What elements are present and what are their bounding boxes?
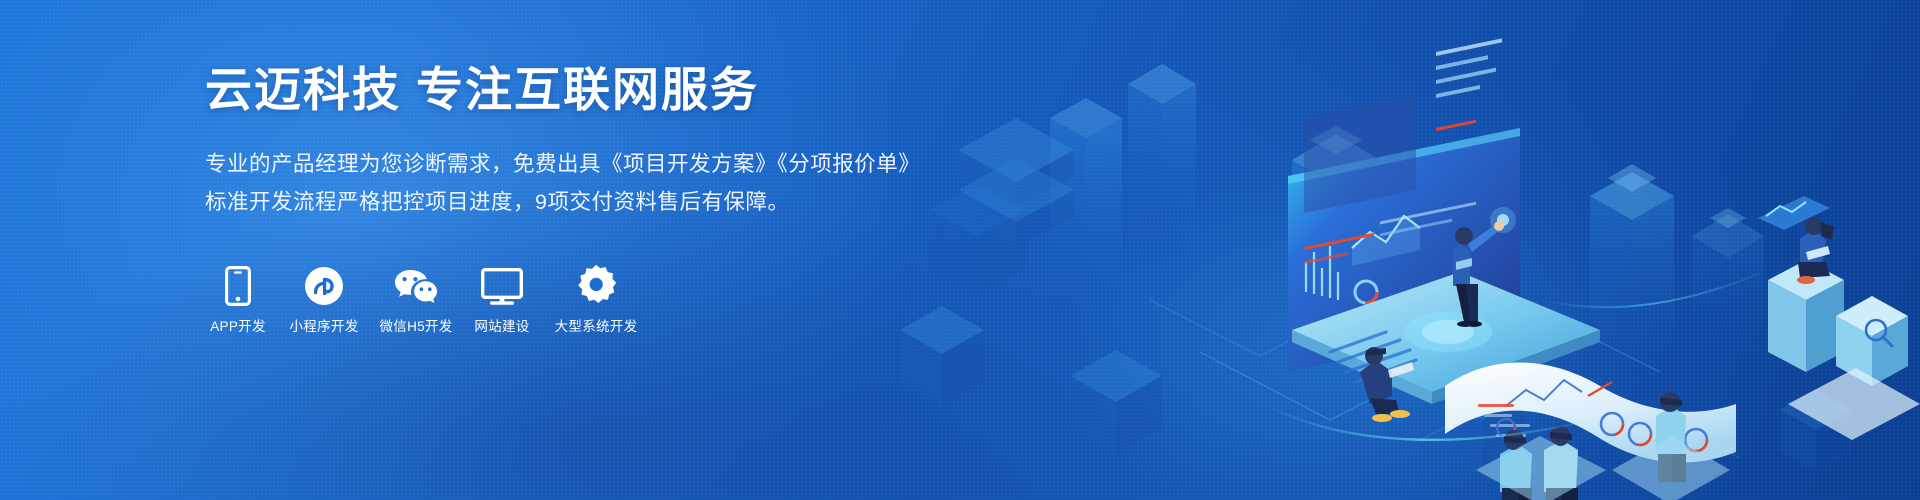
service-item-wechat[interactable]: 微信H5开发 [375, 264, 457, 334]
right-standing-person [1612, 392, 1730, 500]
right-data-card [1788, 0, 1920, 440]
walking-people [1476, 426, 1606, 500]
pedestal-person [1768, 217, 1844, 372]
service-label-app: APP开发 [210, 320, 266, 334]
promo-banner: 云迈科技 专注互联网服务 专业的产品经理为您诊断需求，免费出具《项目开发方案》《… [0, 0, 1920, 500]
glow-grid-lines [1150, 250, 1740, 458]
magnifier-cube [1836, 296, 1908, 386]
tablet-platform [1292, 272, 1600, 404]
service-label-system: 大型系统开发 [555, 320, 638, 334]
banner-subtitle-line-1: 专业的产品经理为您诊断需求，免费出具《项目开发方案》《分项报价单》 [205, 146, 965, 184]
background-glow-right [900, 40, 1800, 500]
service-label-miniprogram: 小程序开发 [290, 320, 359, 334]
service-label-wechat: 微信H5开发 [379, 320, 452, 334]
isometric-data-city-illustration [900, 0, 1920, 500]
mini-program-icon [304, 264, 344, 306]
monitor-icon [481, 264, 523, 306]
dashboard-screen [1288, 38, 1520, 372]
banner-headline: 云迈科技 专注互联网服务 [205, 62, 965, 118]
skyline-towers [900, 64, 1852, 472]
service-item-miniprogram[interactable]: 小程序开发 [285, 264, 363, 334]
service-item-system[interactable]: 大型系统开发 [549, 264, 643, 334]
seated-person-laptop [1360, 347, 1414, 422]
mobile-phone-icon [225, 264, 251, 306]
analytics-cards [1601, 413, 1707, 451]
service-list: APP开发 小程序开发 [205, 264, 965, 334]
service-item-app[interactable]: APP开发 [205, 264, 271, 334]
service-item-website[interactable]: 网站建设 [469, 264, 535, 334]
banner-subtitle-line-2: 标准开发流程严格把控项目进度，9项交付资料售后有保障。 [205, 184, 965, 222]
banner-content: 云迈科技 专注互联网服务 专业的产品经理为您诊断需求，免费出具《项目开发方案》《… [205, 62, 965, 333]
wechat-icon [393, 264, 439, 306]
gear-icon [575, 264, 617, 306]
report-sheet [1445, 362, 1736, 462]
floating-chart-card [1758, 196, 1830, 230]
service-label-website: 网站建设 [474, 320, 529, 334]
standing-person [1453, 221, 1504, 327]
